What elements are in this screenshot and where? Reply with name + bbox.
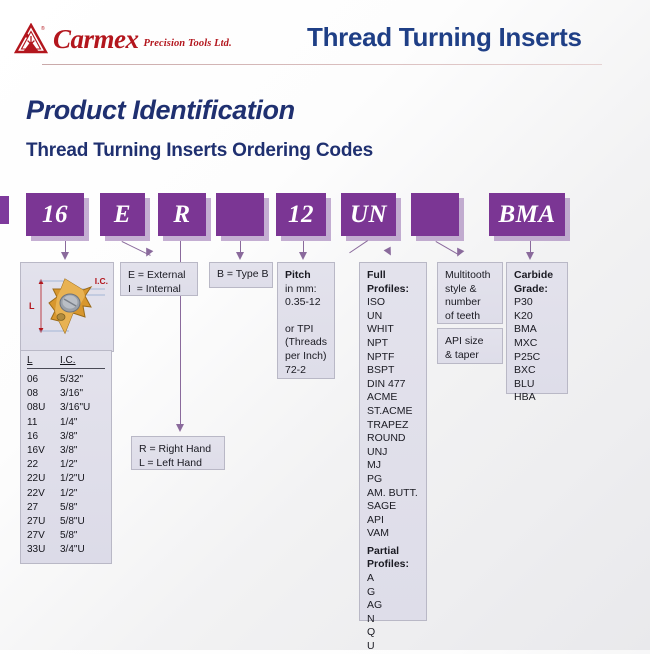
multitooth-line-2: style & (445, 283, 495, 297)
pitch-line-range-tpi: 72-2 (285, 364, 327, 378)
table-row: 065/32" (21, 373, 111, 387)
hand-line-internal: I = Internal (128, 283, 190, 297)
table-cell-l: 27 (27, 501, 60, 515)
page-header: ® Carmex Precision Tools Ltd. Thread Tur… (0, 0, 650, 68)
partial-profile-item: G (367, 586, 419, 600)
table-row: 33U3/4"U (21, 543, 111, 557)
code-chip-label: E (114, 201, 131, 229)
partial-profile-item: AG (367, 599, 419, 613)
pitch-line-unit: in mm: (285, 283, 327, 297)
code-chip-pitch[interactable]: 12 (276, 193, 326, 236)
table-header-rule (27, 368, 105, 371)
code-chip-label: 16 (42, 201, 68, 229)
direction-line-left: L = Left Hand (139, 457, 217, 471)
table-cell-ic: 1/2"U (60, 472, 85, 486)
code-chip-label: R (173, 201, 190, 229)
code-chip-multitooth[interactable] (411, 193, 459, 236)
grade-item: P25C (514, 351, 560, 365)
grade-title-line1: Carbide (514, 269, 560, 283)
pitch-line-threads: (Threads (285, 336, 327, 350)
grade-item: BXC (514, 364, 560, 378)
multitooth-line-1: Multitooth (445, 269, 495, 283)
table-body: 065/32"083/16"08U3/16"U111/4"163/8"16V3/… (21, 373, 111, 558)
pitch-box: Pitch in mm: 0.35-12 or TPI (Threads per… (277, 262, 335, 379)
grade-item: HBA (514, 391, 560, 405)
carmex-logo: ® Carmex Precision Tools Ltd. (14, 23, 232, 55)
pitch-line-tpi: or TPI (285, 323, 327, 337)
table-cell-l: 33U (27, 543, 60, 557)
api-line-1: API size (445, 335, 495, 349)
pitch-line-range-mm: 0.35-12 (285, 296, 327, 310)
grade-list: P30K20BMAMXCP25CBXCBLUHBA (514, 296, 560, 405)
type-box: B = Type B (209, 262, 273, 288)
connector-line (349, 240, 368, 253)
table-cell-ic: 1/2" (60, 487, 77, 501)
profile-item: ST.ACME (367, 405, 419, 419)
page-title: Thread Turning Inserts (307, 22, 582, 53)
connector-arrow-type (236, 252, 244, 260)
api-line-2: & taper (445, 349, 495, 363)
profile-item: DIN 477 (367, 378, 419, 392)
table-cell-ic: 3/16"U (60, 401, 90, 415)
pitch-spacer (285, 310, 327, 323)
pitch-title: Pitch (285, 269, 327, 283)
table-cell-ic: 5/8" (60, 529, 77, 543)
direction-box: R = Right Hand L = Left Hand (131, 436, 225, 470)
connector-arrow-multitooth (454, 248, 465, 259)
table-cell-ic: 5/8"U (60, 515, 85, 529)
brand-tagline: Precision Tools Ltd. (144, 38, 232, 49)
table-cell-ic: 3/16" (60, 387, 83, 401)
table-row: 27U5/8"U (21, 515, 111, 529)
table-row: 22U1/2"U (21, 472, 111, 486)
table-header-row: L I.C. (21, 355, 111, 366)
table-cell-l: 16V (27, 444, 60, 458)
profile-item: AM. BUTT. (367, 487, 419, 501)
grade-item: MXC (514, 337, 560, 351)
hand-box: E = External I = Internal (120, 262, 198, 296)
multitooth-box: Multitooth style & number of teeth (437, 262, 503, 324)
table-cell-ic: 3/8" (60, 430, 77, 444)
table-cell-l: 08U (27, 401, 60, 415)
connector-arrow-profiles (384, 247, 395, 258)
pitch-line-perinch: per Inch) (285, 350, 327, 364)
size-table: L I.C. 065/32"083/16"08U3/16"U111/4"163/… (20, 350, 112, 564)
code-chip-size[interactable]: 16 (26, 193, 84, 236)
full-profiles-title-line1: Full (367, 269, 419, 283)
table-cell-ic: 3/8" (60, 444, 77, 458)
full-profiles-list: ISOUNWHITNPTNPTFBSPTDIN 477ACMEST.ACMETR… (367, 296, 419, 541)
profile-item: API (367, 514, 419, 528)
full-profiles-title-line2: Profiles: (367, 283, 419, 297)
hand-line-external: E = External (128, 269, 190, 283)
api-box: API size & taper (437, 328, 503, 364)
code-chip-grade[interactable]: BMA (489, 193, 565, 236)
accent-edge-bar (0, 196, 9, 224)
page-canvas: ® Carmex Precision Tools Ltd. Thread Tur… (0, 0, 650, 650)
connector-arrow-grade (526, 252, 534, 260)
table-cell-l: 27U (27, 515, 60, 529)
table-cell-l: 06 (27, 373, 60, 387)
code-chip-type[interactable] (216, 193, 264, 236)
header-divider (42, 64, 602, 65)
carmex-logo-icon: ® (14, 23, 48, 55)
grade-item: P30 (514, 296, 560, 310)
profile-item: ISO (367, 296, 419, 310)
partial-profile-item: A (367, 572, 419, 586)
table-cell-l: 11 (27, 416, 60, 430)
brand-name: Carmex (53, 26, 139, 53)
grade-box: Carbide Grade: P30K20BMAMXCP25CBXCBLUHBA (506, 262, 568, 394)
profile-item: ROUND (367, 432, 419, 446)
profile-item: MJ (367, 459, 419, 473)
grade-item: BMA (514, 323, 560, 337)
connector-arrow-pitch (299, 252, 307, 260)
code-chip-label: 12 (288, 201, 314, 229)
table-cell-l: 16 (27, 430, 60, 444)
insert-figure: I.C. L (20, 262, 114, 352)
table-cell-ic: 3/4"U (60, 543, 85, 557)
profile-item: UNJ (367, 446, 419, 460)
code-chip-label: UN (350, 201, 387, 229)
connector-arrow-hand (143, 248, 154, 259)
profile-item: NPTF (367, 351, 419, 365)
section-subtitle: Thread Turning Inserts Ordering Codes (26, 140, 373, 162)
profiles-box: Full Profiles: ISOUNWHITNPTNPTFBSPTDIN 4… (359, 262, 427, 621)
table-col-header-l: L (27, 355, 60, 366)
table-col-header-ic: I.C. (60, 355, 76, 366)
grade-item: BLU (514, 378, 560, 392)
table-row: 221/2" (21, 458, 111, 472)
partial-profile-item: Q (367, 626, 419, 640)
table-row: 16V3/8" (21, 444, 111, 458)
code-chip-hand[interactable]: E (100, 193, 145, 236)
partial-profiles-title-line2: Profiles: (367, 558, 419, 572)
insert-ic-dimension-label: I.C. (95, 276, 108, 286)
profile-item: TRAPEZ (367, 419, 419, 433)
partial-profiles-title-line1: Partial (367, 545, 419, 559)
table-cell-l: 22 (27, 458, 60, 472)
table-cell-ic: 1/2" (60, 458, 77, 472)
multitooth-line-3: number (445, 296, 495, 310)
profile-item: WHIT (367, 323, 419, 337)
table-cell-ic: 1/4" (60, 416, 77, 430)
table-cell-l: 27V (27, 529, 60, 543)
table-cell-l: 22U (27, 472, 60, 486)
table-row: 083/16" (21, 387, 111, 401)
table-row: 27V5/8" (21, 529, 111, 543)
table-row: 111/4" (21, 416, 111, 430)
profile-item: SAGE (367, 500, 419, 514)
connector-arrow-size (61, 252, 69, 260)
grade-title-line2: Grade: (514, 283, 560, 297)
type-line: B = Type B (217, 268, 268, 282)
partial-profile-item: U (367, 640, 419, 654)
code-chip-direction[interactable]: R (158, 193, 206, 236)
profile-item: PG (367, 473, 419, 487)
table-cell-l: 22V (27, 487, 60, 501)
table-cell-l: 08 (27, 387, 60, 401)
profile-item: ACME (367, 391, 419, 405)
table-row: 163/8" (21, 430, 111, 444)
table-row: 275/8" (21, 501, 111, 515)
table-cell-ic: 5/8" (60, 501, 77, 515)
partial-profile-item: N (367, 613, 419, 627)
multitooth-line-4: of teeth (445, 310, 495, 324)
table-row: 08U3/16"U (21, 401, 111, 415)
svg-text:®: ® (41, 25, 45, 32)
profile-item: BSPT (367, 364, 419, 378)
code-chip-profile[interactable]: UN (341, 193, 396, 236)
partial-profiles-list: AGAGNQU (367, 572, 419, 654)
direction-line-right: R = Right Hand (139, 443, 217, 457)
grade-item: K20 (514, 310, 560, 324)
table-row: 22V1/2" (21, 487, 111, 501)
code-chip-label: BMA (498, 201, 555, 229)
section-title: Product Identification (26, 95, 295, 126)
table-cell-ic: 5/32" (60, 373, 83, 387)
profile-item: VAM (367, 527, 419, 541)
connector-arrow-direction (176, 424, 184, 432)
profile-item: NPT (367, 337, 419, 351)
insert-l-dimension-label: L (29, 301, 35, 311)
profile-item: UN (367, 310, 419, 324)
